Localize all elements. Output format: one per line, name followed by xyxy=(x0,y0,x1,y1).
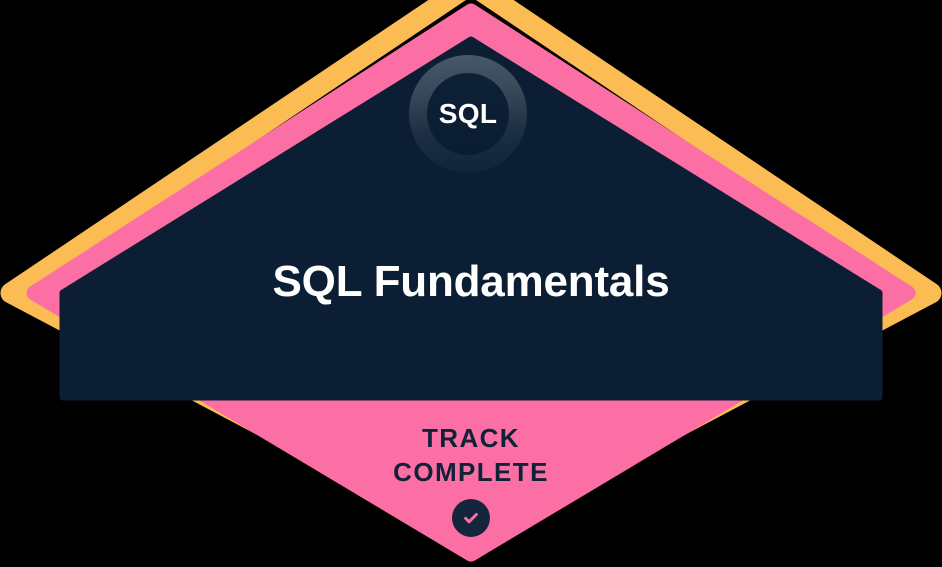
check-circle-icon xyxy=(452,499,490,537)
sql-ring-emblem: SQL xyxy=(409,55,527,173)
track-title: SQL Fundamentals xyxy=(0,257,942,307)
completion-badge-canvas: SQL SQL Fundamentals TRACK COMPLETE xyxy=(0,0,942,567)
completion-status-line-1: TRACK xyxy=(0,421,942,455)
completion-status-line-2: COMPLETE xyxy=(0,455,942,489)
sql-emblem-core: SQL xyxy=(427,73,509,155)
sql-emblem-label: SQL xyxy=(439,100,497,128)
completion-status: TRACK COMPLETE xyxy=(0,421,942,537)
